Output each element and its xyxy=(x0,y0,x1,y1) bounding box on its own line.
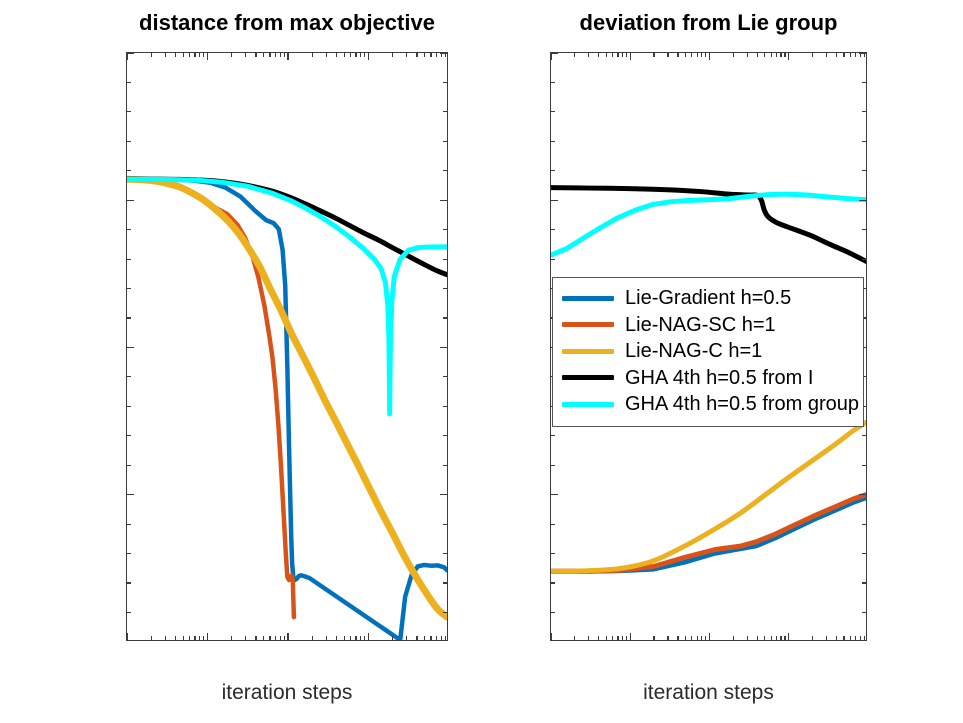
x-tick xyxy=(269,53,270,57)
x-tick xyxy=(612,53,613,57)
x-tick xyxy=(771,53,772,57)
legend-item[interactable]: Lie-NAG-C h=1 xyxy=(562,338,854,365)
y-tick xyxy=(551,612,555,613)
y-tick xyxy=(440,200,447,201)
x-tick xyxy=(364,53,365,57)
y-tick xyxy=(443,229,447,230)
y-tick xyxy=(443,82,447,83)
x-tick xyxy=(445,53,446,57)
y-tick xyxy=(127,229,131,230)
y-tick xyxy=(440,494,447,495)
y-tick xyxy=(443,435,447,436)
y-tick xyxy=(127,170,131,171)
x-tick xyxy=(747,53,748,57)
x-tick xyxy=(733,53,734,57)
x-tick xyxy=(788,53,789,60)
x-tick xyxy=(165,53,166,57)
x-tick xyxy=(126,53,127,60)
x-tick xyxy=(207,53,208,60)
x-tick xyxy=(685,636,686,640)
x-tick xyxy=(336,53,337,57)
x-tick xyxy=(350,53,351,57)
y-tick xyxy=(127,465,131,466)
x-tick xyxy=(764,53,765,57)
x-tick xyxy=(630,53,631,60)
x-tick xyxy=(355,53,356,57)
x-tick xyxy=(194,636,195,640)
x-tick xyxy=(336,636,337,640)
x-tick xyxy=(598,53,599,57)
x-tick xyxy=(126,633,127,640)
y-tick xyxy=(443,317,447,318)
y-tick xyxy=(443,141,447,142)
y-tick xyxy=(127,82,131,83)
y-tick xyxy=(127,582,131,583)
x-tick xyxy=(364,636,365,640)
y-tick xyxy=(862,582,866,583)
x-tick xyxy=(812,636,813,640)
x-tick xyxy=(360,636,361,640)
y-tick xyxy=(443,524,447,525)
y-tick xyxy=(443,582,447,583)
x-tick xyxy=(747,636,748,640)
x-tick xyxy=(368,53,369,60)
x-tick xyxy=(263,53,264,57)
y-tick xyxy=(862,141,866,142)
x-tick xyxy=(622,53,623,57)
x-tick xyxy=(245,636,246,640)
y-tick xyxy=(443,465,447,466)
y-tick xyxy=(551,553,555,554)
x-tick xyxy=(207,633,208,640)
x-tick xyxy=(764,636,765,640)
y-tick xyxy=(443,553,447,554)
x-tick xyxy=(685,53,686,57)
plot-legend: Lie-Gradient h=0.5Lie-NAG-SC h=1Lie-NAG-… xyxy=(552,277,864,427)
y-tick xyxy=(551,170,555,171)
x-tick xyxy=(287,633,288,640)
y-tick xyxy=(551,82,555,83)
x-tick xyxy=(441,53,442,57)
x-tick xyxy=(194,53,195,57)
x-tick xyxy=(709,633,710,640)
x-tick xyxy=(344,53,345,57)
x-tick xyxy=(812,53,813,57)
series-line xyxy=(551,194,866,255)
x-tick xyxy=(392,636,393,640)
y-tick xyxy=(551,465,555,466)
x-tick xyxy=(175,636,176,640)
x-tick xyxy=(864,53,865,57)
y-tick xyxy=(551,229,555,230)
x-tick xyxy=(843,636,844,640)
x-tick xyxy=(691,53,692,57)
legend-color-swatch xyxy=(562,349,614,354)
y-tick xyxy=(551,435,555,436)
legend-item-label: GHA 4th h=0.5 from group xyxy=(625,394,859,414)
y-tick xyxy=(127,111,131,112)
x-tick xyxy=(667,53,668,57)
x-tick xyxy=(776,636,777,640)
x-tick xyxy=(360,53,361,57)
legend-item-label: GHA 4th h=0.5 from I xyxy=(625,368,813,388)
legend-item[interactable]: Lie-NAG-SC h=1 xyxy=(562,312,854,339)
y-tick xyxy=(440,347,447,348)
y-tick xyxy=(127,524,131,525)
x-tick xyxy=(630,633,631,640)
x-tick xyxy=(175,53,176,57)
x-tick xyxy=(326,53,327,57)
x-tick xyxy=(612,636,613,640)
x-tick xyxy=(284,53,285,57)
x-tick xyxy=(843,53,844,57)
x-tick xyxy=(424,53,425,57)
y-tick xyxy=(443,612,447,613)
x-tick xyxy=(606,636,607,640)
y-tick xyxy=(551,582,555,583)
x-tick xyxy=(617,53,618,57)
x-tick xyxy=(691,636,692,640)
legend-color-swatch xyxy=(562,402,614,407)
x-tick xyxy=(697,53,698,57)
x-tick xyxy=(780,636,781,640)
x-tick xyxy=(416,53,417,57)
y-tick xyxy=(862,435,866,436)
x-tick xyxy=(350,636,351,640)
y-tick xyxy=(862,612,866,613)
x-tick xyxy=(826,636,827,640)
legend-item[interactable]: GHA 4th h=0.5 from I xyxy=(562,365,854,392)
y-tick xyxy=(551,111,555,112)
x-tick xyxy=(864,636,865,640)
x-tick xyxy=(326,636,327,640)
y-tick xyxy=(127,553,131,554)
x-tick xyxy=(574,53,575,57)
x-tick xyxy=(588,636,589,640)
x-tick xyxy=(784,53,785,57)
x-tick xyxy=(355,636,356,640)
y-tick xyxy=(551,259,555,260)
y-tick xyxy=(443,376,447,377)
x-tick xyxy=(245,53,246,57)
x-tick xyxy=(826,53,827,57)
x-tick xyxy=(275,636,276,640)
x-tick xyxy=(368,633,369,640)
legend-item-label: Lie-NAG-C h=1 xyxy=(625,341,762,361)
x-tick xyxy=(850,636,851,640)
x-tick xyxy=(701,53,702,57)
legend-color-swatch xyxy=(562,296,614,301)
x-tick xyxy=(855,636,856,640)
y-tick xyxy=(862,465,866,466)
x-tick xyxy=(705,636,706,640)
legend-color-swatch xyxy=(562,322,614,327)
x-tick xyxy=(784,636,785,640)
x-tick xyxy=(836,636,837,640)
x-tick xyxy=(312,53,313,57)
x-tick xyxy=(263,636,264,640)
y-tick xyxy=(862,229,866,230)
x-tick xyxy=(776,53,777,57)
x-tick xyxy=(598,636,599,640)
x-tick xyxy=(860,636,861,640)
x-tick xyxy=(550,53,551,60)
x-tick xyxy=(312,636,313,640)
y-tick xyxy=(862,553,866,554)
right-plot-title: deviation from Lie group xyxy=(550,10,867,36)
y-tick xyxy=(127,376,131,377)
y-tick xyxy=(551,524,555,525)
x-tick xyxy=(183,636,184,640)
y-tick xyxy=(551,200,558,201)
y-tick xyxy=(859,200,866,201)
y-tick xyxy=(127,347,134,348)
x-tick xyxy=(231,53,232,57)
x-tick xyxy=(199,53,200,57)
legend-item-label: Lie-Gradient h=0.5 xyxy=(625,288,791,308)
y-tick xyxy=(862,524,866,525)
x-tick xyxy=(780,53,781,57)
x-tick xyxy=(275,53,276,57)
y-tick xyxy=(443,406,447,407)
x-tick xyxy=(701,636,702,640)
x-tick xyxy=(255,53,256,57)
x-tick xyxy=(667,636,668,640)
x-tick xyxy=(344,636,345,640)
x-tick xyxy=(574,636,575,640)
legend-item[interactable]: Lie-Gradient h=0.5 xyxy=(562,285,854,312)
y-tick xyxy=(551,52,558,53)
x-tick xyxy=(284,636,285,640)
x-tick xyxy=(855,53,856,57)
x-tick xyxy=(653,636,654,640)
legend-item[interactable]: GHA 4th h=0.5 from group xyxy=(562,391,854,418)
left-x-axis-label: iteration steps xyxy=(126,681,448,705)
x-tick xyxy=(165,636,166,640)
figure-root: distance from max objective 10510010−510… xyxy=(0,0,963,723)
legend-item-label: Lie-NAG-SC h=1 xyxy=(625,315,776,335)
y-tick xyxy=(127,259,131,260)
x-tick xyxy=(203,53,204,57)
y-tick xyxy=(443,170,447,171)
x-tick xyxy=(203,636,204,640)
y-tick xyxy=(862,82,866,83)
x-tick xyxy=(269,636,270,640)
x-tick xyxy=(606,53,607,57)
x-tick xyxy=(287,53,288,60)
y-tick xyxy=(443,111,447,112)
x-tick xyxy=(677,53,678,57)
y-tick xyxy=(127,406,131,407)
y-tick xyxy=(862,170,866,171)
x-tick xyxy=(771,636,772,640)
y-tick xyxy=(127,612,131,613)
y-tick xyxy=(551,494,558,495)
x-tick xyxy=(860,53,861,57)
left-plot-axes: 10510010−510−1010−15100102104 xyxy=(126,52,448,641)
left-panel: distance from max objective 10510010−510… xyxy=(126,52,448,641)
y-tick xyxy=(859,494,866,495)
x-tick xyxy=(733,636,734,640)
x-tick xyxy=(183,53,184,57)
x-tick xyxy=(189,53,190,57)
x-tick xyxy=(445,636,446,640)
left-plot-title: distance from max objective xyxy=(126,10,448,36)
x-tick xyxy=(231,636,232,640)
x-tick xyxy=(550,633,551,640)
series-line xyxy=(127,179,294,617)
x-tick xyxy=(697,636,698,640)
x-tick xyxy=(406,53,407,57)
y-tick xyxy=(551,141,555,142)
x-tick xyxy=(151,53,152,57)
x-tick xyxy=(757,53,758,57)
x-tick xyxy=(430,53,431,57)
x-tick xyxy=(424,636,425,640)
y-tick xyxy=(127,317,131,318)
y-tick xyxy=(862,111,866,112)
x-tick xyxy=(709,53,710,60)
right-x-axis-label: iteration steps xyxy=(550,681,867,705)
x-tick xyxy=(255,636,256,640)
y-tick xyxy=(127,288,131,289)
y-tick xyxy=(127,200,134,201)
x-tick xyxy=(416,636,417,640)
y-tick xyxy=(862,259,866,260)
x-tick xyxy=(626,636,627,640)
y-tick xyxy=(127,494,134,495)
x-tick xyxy=(622,636,623,640)
x-tick xyxy=(788,633,789,640)
x-tick xyxy=(677,636,678,640)
y-tick xyxy=(443,288,447,289)
x-tick xyxy=(151,636,152,640)
x-tick xyxy=(199,636,200,640)
x-tick xyxy=(430,636,431,640)
x-tick xyxy=(436,53,437,57)
x-tick xyxy=(836,53,837,57)
y-tick xyxy=(443,259,447,260)
x-tick xyxy=(850,53,851,57)
x-tick xyxy=(705,53,706,57)
x-tick xyxy=(757,636,758,640)
x-tick xyxy=(626,53,627,57)
left-plot-curves xyxy=(127,53,447,640)
x-tick xyxy=(441,636,442,640)
x-tick xyxy=(280,636,281,640)
x-tick xyxy=(617,636,618,640)
x-tick xyxy=(280,53,281,57)
y-tick xyxy=(127,52,134,53)
x-tick xyxy=(392,53,393,57)
y-tick xyxy=(127,435,131,436)
y-tick xyxy=(127,141,131,142)
legend-color-swatch xyxy=(562,375,614,380)
x-tick xyxy=(189,636,190,640)
x-tick xyxy=(653,53,654,57)
x-tick xyxy=(436,636,437,640)
x-tick xyxy=(588,53,589,57)
x-tick xyxy=(406,636,407,640)
